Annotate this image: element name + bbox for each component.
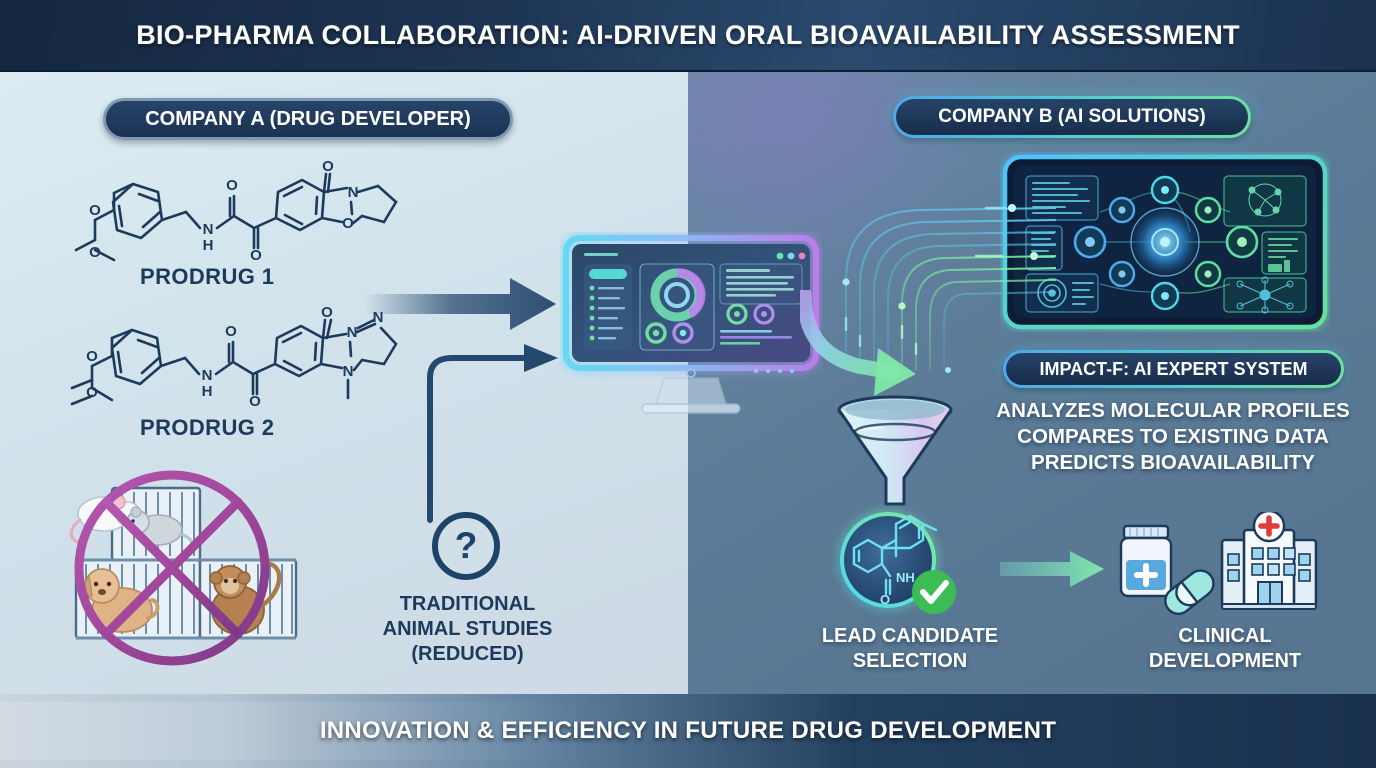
lead-line-2: SELECTION	[795, 649, 1025, 674]
atom-label-O: O	[89, 244, 101, 261]
lead-to-clinical-arrow	[1000, 545, 1120, 595]
atom-label-O: O	[86, 348, 98, 365]
clinical-development-icons	[1118, 512, 1328, 622]
hospital-icon	[1222, 512, 1316, 609]
atom-label-N: N	[348, 184, 359, 201]
pill-bottle-icon	[1121, 526, 1171, 596]
atom-label-N: N	[347, 324, 358, 341]
atom-label-N: N	[343, 363, 354, 380]
header-banner: BIO-PHARMA COLLABORATION: AI-DRIVEN ORAL…	[0, 0, 1376, 72]
company-b-badge-label: COMPANY B (AI SOLUTIONS)	[938, 106, 1205, 128]
atom-label-O: O	[880, 592, 890, 607]
clinical-line-1: CLINICAL	[1110, 624, 1340, 649]
lead-candidate-badge: NH O	[828, 504, 988, 624]
atom-label-O: O	[250, 247, 262, 264]
clinical-line-2: DEVELOPMENT	[1110, 649, 1340, 674]
company-b-badge: COMPANY B (AI SOLUTIONS)	[893, 96, 1251, 138]
atom-label-O: O	[86, 384, 98, 401]
capability-line-1: ANALYZES MOLECULAR PROFILES	[975, 398, 1371, 424]
prodrug-2-label: PRODRUG 2	[140, 415, 274, 441]
footer-text: INNOVATION & EFFICIENCY IN FUTURE DRUG D…	[320, 717, 1056, 745]
capability-line-3: PREDICTS BIOAVAILABILITY	[975, 450, 1371, 476]
lead-candidate-label: LEAD CANDIDATE SELECTION	[795, 624, 1025, 674]
prodrug-to-monitor-arrow	[364, 278, 556, 330]
traditional-studies-label: TRADITIONAL ANIMAL STUDIES (REDUCED)	[330, 592, 605, 667]
animal-studies-to-monitor-connector	[430, 358, 528, 520]
impact-f-badge: IMPACT-F: AI EXPERT SYSTEM	[1003, 350, 1344, 388]
elbow-arrowhead	[524, 344, 558, 372]
atom-label-O: O	[249, 393, 261, 410]
atom-label-O: O	[321, 304, 333, 321]
atom-label-NH: NH	[896, 570, 915, 585]
atom-label-N: N	[202, 367, 213, 384]
infographic-canvas: BIO-PHARMA COLLABORATION: AI-DRIVEN ORAL…	[0, 0, 1376, 768]
traditional-line-3: (REDUCED)	[330, 642, 605, 667]
traditional-line-1: TRADITIONAL	[330, 592, 605, 617]
atom-label-H: H	[202, 383, 213, 400]
atom-label-O: O	[225, 323, 237, 340]
prodrug-1-structure: O O N H O O O N O	[62, 158, 482, 268]
company-a-badge: COMPANY A (DRUG DEVELOPER)	[103, 98, 513, 140]
clinical-development-label: CLINICAL DEVELOPMENT	[1110, 624, 1340, 674]
page-title: BIO-PHARMA COLLABORATION: AI-DRIVEN ORAL…	[136, 20, 1240, 51]
lead-line-1: LEAD CANDIDATE	[795, 624, 1025, 649]
analysis-funnel	[830, 394, 960, 512]
prodrug-1-label: PRODRUG 1	[140, 264, 274, 290]
ai-capabilities-text: ANALYZES MOLECULAR PROFILES COMPARES TO …	[975, 398, 1371, 476]
company-a-badge-label: COMPANY A (DRUG DEVELOPER)	[145, 108, 471, 131]
atom-label-O: O	[322, 158, 334, 175]
analysis-dashboard-monitor	[560, 232, 822, 422]
traditional-line-2: ANIMAL STUDIES	[330, 617, 605, 642]
capability-line-2: COMPARES TO EXISTING DATA	[975, 424, 1371, 450]
impact-f-badge-label: IMPACT-F: AI EXPERT SYSTEM	[1039, 359, 1307, 380]
atom-label-H: H	[203, 237, 214, 254]
caged-animals-crossed-out-icon	[60, 468, 315, 683]
atom-label-O: O	[89, 202, 101, 219]
atom-label-O: O	[342, 215, 354, 232]
atom-label-O: O	[226, 177, 238, 194]
footer-banner: INNOVATION & EFFICIENCY IN FUTURE DRUG D…	[0, 694, 1376, 768]
atom-label-N: N	[203, 221, 214, 238]
